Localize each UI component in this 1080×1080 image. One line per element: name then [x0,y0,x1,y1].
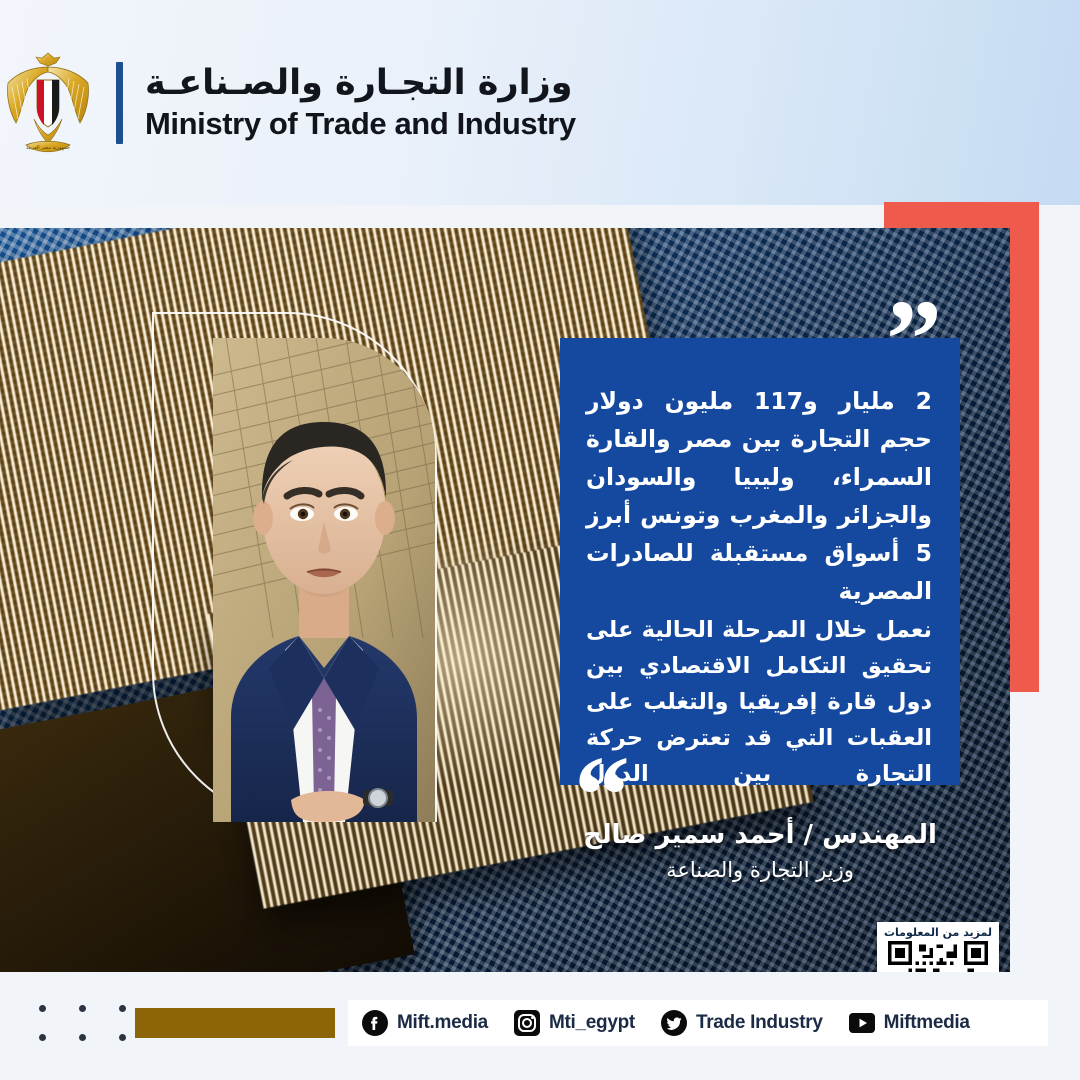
attribution: المهندس / أحمد سمير صالح وزير التجارة وا… [560,820,960,882]
social-media-bar: Mift.media Mti_egypt Trade Industry [348,1000,1048,1046]
page-footer: Mift.media Mti_egypt Trade Industry [0,972,1080,1080]
quote-paragraph-2: نعمل خلال المرحلة الحالية على تحقيق التك… [586,612,932,792]
speaker-role: وزير التجارة والصناعة [560,858,960,882]
dot [119,1034,126,1041]
social-label[interactable]: Trade Industry [696,1012,823,1034]
social-link-facebook[interactable]: Mift.media [362,1010,488,1036]
speaker-name: المهندس / أحمد سمير صالح [560,820,960,850]
header-divider [116,62,123,144]
decorative-dots [22,994,142,1052]
egypt-eagle-of-saladin-emblem: جمهورية مصر العربية [0,45,96,160]
quote-card: وزارة التجـارة والصـناعـة Ministry of Tr… [0,0,1080,1080]
dot [79,1005,86,1012]
dot [119,1005,126,1012]
facebook-icon[interactable] [362,1010,388,1036]
quote-paragraph-1: 2 مليار و117 مليون دولار حجم التجارة بين… [586,382,932,610]
social-label[interactable]: Mti_egypt [549,1012,635,1034]
portrait-illustration [213,338,435,822]
instagram-icon[interactable] [514,1010,540,1036]
social-link-twitter[interactable]: Trade Industry [661,1010,823,1036]
social-link-youtube[interactable]: Miftmedia [849,1010,970,1036]
page-header: وزارة التجـارة والصـناعـة Ministry of Tr… [0,0,1080,205]
dot [39,1034,46,1041]
social-label[interactable]: Miftmedia [884,1012,970,1034]
dot [79,1034,86,1041]
twitter-icon[interactable] [661,1010,687,1036]
quote-box: ” 2 مليار و117 مليون دولار حجم التجارة ب… [560,338,960,785]
emblem-motto-text: جمهورية مصر العربية [26,145,70,151]
ministry-titles: وزارة التجـارة والصـناعـة Ministry of Tr… [145,66,576,139]
closing-quote-icon: ” [886,300,940,381]
ministry-title-english: Ministry of Trade and Industry [145,108,576,139]
header-branding: وزارة التجـارة والصـناعـة Ministry of Tr… [0,45,576,160]
ministry-title-arabic: وزارة التجـارة والصـناعـة [145,66,573,101]
qr-caption: لمزيد من المعلومات [883,927,993,939]
dot [39,1005,46,1012]
social-label[interactable]: Mift.media [397,1012,488,1034]
social-link-instagram[interactable]: Mti_egypt [514,1010,635,1036]
gold-accent-bar [135,1008,335,1038]
minister-portrait [213,338,435,822]
youtube-icon[interactable] [849,1010,875,1036]
